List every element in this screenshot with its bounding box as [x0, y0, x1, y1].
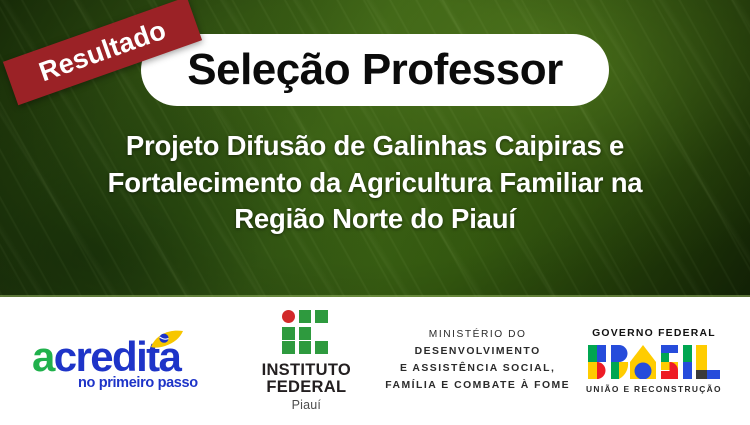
acredita-logo: acredita no primeiro passo: [32, 328, 228, 394]
page-title: Seleção Professor: [187, 48, 562, 92]
if-pixel-grid-icon: [282, 310, 330, 355]
if-red-dot: [282, 310, 295, 323]
ministerio-line-1: MINISTÉRIO DO: [385, 327, 571, 344]
instituto-federal-logo: INSTITUTO FEDERAL Piauí: [241, 310, 371, 411]
if-square: [315, 310, 328, 323]
ministerio-line-4: FAMÍLIA E COMBATE À FOME: [385, 378, 571, 395]
if-square: [299, 341, 312, 354]
ministerio-line-2: DESENVOLVIMENTO: [385, 344, 571, 361]
project-subtitle: Projeto Difusão de Galinhas Caipiras e F…: [24, 128, 726, 238]
if-square: [299, 327, 312, 340]
subtitle-line-1: Projeto Difusão de Galinhas Caipiras e: [24, 128, 726, 165]
brasil-wordmark-icon: [588, 345, 720, 379]
subtitle-line-2: Fortalecimento da Agricultura Familiar n…: [24, 165, 726, 202]
acredita-letter-a: a: [32, 333, 54, 380]
if-square: [282, 341, 295, 354]
ministerio-line-3: E ASSISTÊNCIA SOCIAL,: [385, 361, 571, 378]
governo-federal-tagline: UNIÃO E RECONSTRUÇÃO: [586, 385, 722, 393]
if-label-campus: Piauí: [292, 399, 322, 412]
brazil-flag-swoosh-icon: [150, 330, 184, 350]
governo-federal-logo: GOVERNO FEDERAL: [584, 329, 724, 393]
if-square: [282, 327, 295, 340]
if-label-line-1: INSTITUTO: [262, 362, 351, 379]
footer-logo-bar: acredita no primeiro passo INSTITUTO FE: [0, 297, 750, 425]
if-square: [315, 341, 328, 354]
subtitle-line-3: Região Norte do Piauí: [24, 201, 726, 238]
governo-federal-label: GOVERNO FEDERAL: [592, 329, 716, 339]
ministerio-logo: MINISTÉRIO DO DESENVOLVIMENTO E ASSISTÊN…: [385, 327, 571, 394]
title-pill: Seleção Professor: [141, 34, 609, 106]
if-label-line-2: FEDERAL: [266, 379, 346, 396]
if-square: [299, 310, 312, 323]
poster: Seleção Professor Resultado Projeto Difu…: [0, 0, 750, 425]
acredita-tagline: no primeiro passo: [78, 376, 198, 391]
